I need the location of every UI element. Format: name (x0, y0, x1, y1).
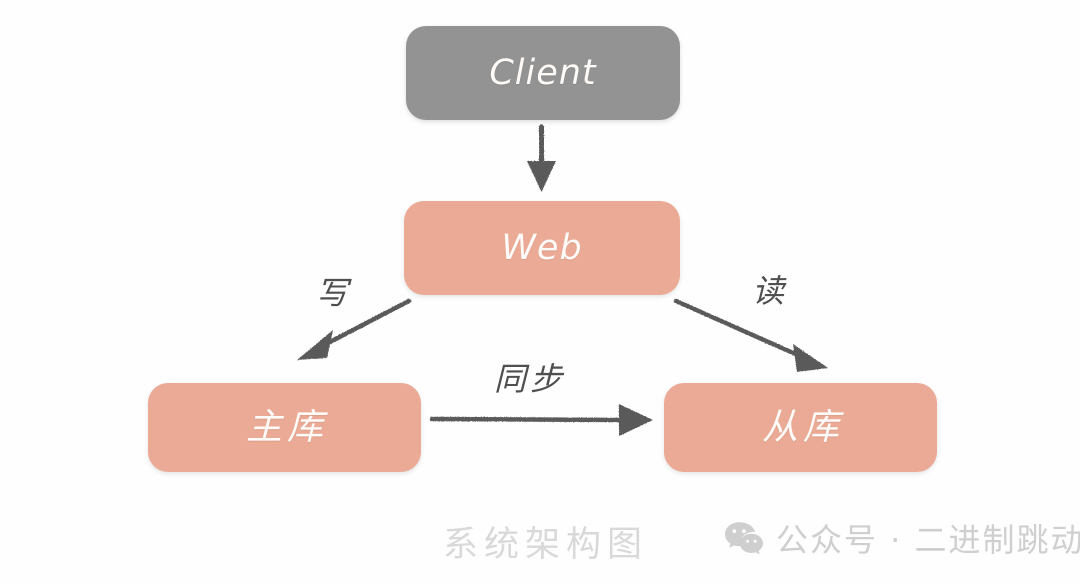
node-master-database-label: 主库 (241, 410, 328, 446)
edge-label-write: 写 (316, 268, 350, 314)
node-slave-database-label: 从库 (757, 410, 844, 446)
arrow-web-to-master (297, 301, 409, 360)
node-slave-database[interactable]: 从库 (664, 383, 937, 472)
node-master-database[interactable]: 主库 (148, 383, 421, 472)
node-client-label: Client (489, 56, 596, 91)
watermark-diagram-title: 系统架构图 (443, 516, 648, 567)
node-web[interactable]: Web (404, 201, 680, 295)
arrow-client-to-web (527, 127, 556, 192)
node-web-label: Web (501, 231, 582, 266)
node-client[interactable]: Client (406, 26, 680, 120)
arrow-master-to-slave (432, 404, 653, 436)
edge-label-read: 读 (752, 266, 786, 312)
wechat-icon (724, 521, 764, 555)
watermark-account-text: 公众号 · 二进制跳动 (776, 515, 1080, 561)
watermark-account: 公众号 · 二进制跳动 (724, 515, 1080, 561)
edge-label-sync: 同步 (494, 354, 566, 400)
